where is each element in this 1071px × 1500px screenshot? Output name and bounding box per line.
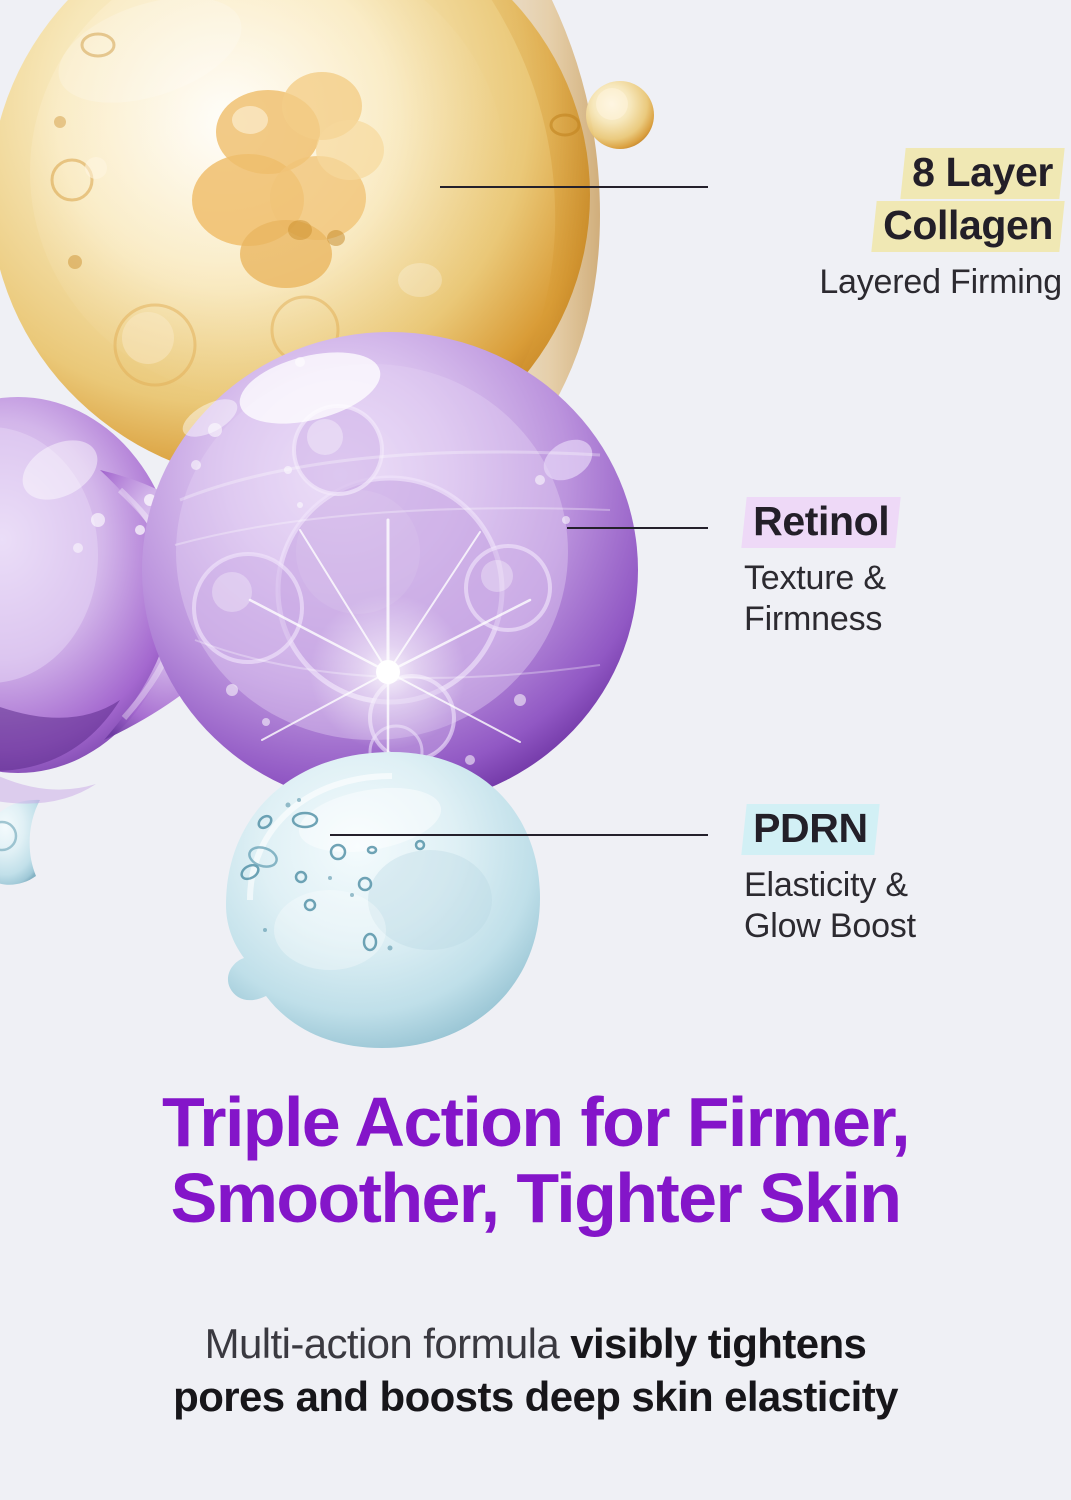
collagen-subtitle-line-1: Layered Firming xyxy=(744,262,1062,303)
leader-line-pdrn xyxy=(330,834,708,836)
leader-line-retinol xyxy=(567,527,708,529)
retinol-purple-sphere xyxy=(142,332,638,808)
leader-line-collagen xyxy=(440,186,708,188)
tagline-line-2: pores and boosts deep skin elasticity xyxy=(0,1371,1071,1424)
headline-line-1: Triple Action for Firmer, xyxy=(0,1085,1071,1161)
retinol-subtitle-line-1: Texture & xyxy=(744,558,1062,599)
collagen-subtitle: Layered Firming xyxy=(744,262,1062,303)
tagline-bold-text-1: visibly tightens xyxy=(570,1320,866,1367)
retinol-title-highlight: Retinol xyxy=(741,497,901,548)
tagline: Multi-action formula visibly tightens po… xyxy=(0,1318,1071,1423)
retinol-title-line-1: Retinol xyxy=(744,497,1062,550)
product-benefit-infographic: 8 Layer Collagen Layered Firming Retinol… xyxy=(0,0,1071,1500)
callout-pdrn: PDRN Elasticity & Glow Boost xyxy=(744,804,1062,948)
collagen-title-highlight-2: Collagen xyxy=(871,201,1064,252)
pdrn-title-highlight: PDRN xyxy=(741,804,879,855)
pdrn-subtitle: Elasticity & Glow Boost xyxy=(744,865,1062,948)
callout-retinol: Retinol Texture & Firmness xyxy=(744,497,1062,641)
pdrn-subtitle-line-1: Elasticity & xyxy=(744,865,1062,906)
pdrn-title-line-1: PDRN xyxy=(744,804,1062,857)
collagen-title-highlight-1: 8 Layer xyxy=(901,148,1065,199)
main-headline: Triple Action for Firmer, Smoother, Tigh… xyxy=(0,1085,1071,1236)
tagline-light-text: Multi-action formula xyxy=(205,1320,571,1367)
tagline-line-1: Multi-action formula visibly tightens xyxy=(0,1318,1071,1371)
retinol-subtitle: Texture & Firmness xyxy=(744,558,1062,641)
pdrn-subtitle-line-2: Glow Boost xyxy=(744,906,1062,947)
collagen-title-line-2: Collagen xyxy=(744,201,1062,254)
tagline-bold-text-2: pores and boosts deep skin elasticity xyxy=(173,1373,898,1420)
retinol-subtitle-line-2: Firmness xyxy=(744,599,1062,640)
collagen-title-line-1: 8 Layer xyxy=(744,148,1062,201)
callout-collagen: 8 Layer Collagen Layered Firming xyxy=(744,148,1062,303)
headline-line-2: Smoother, Tighter Skin xyxy=(0,1161,1071,1237)
